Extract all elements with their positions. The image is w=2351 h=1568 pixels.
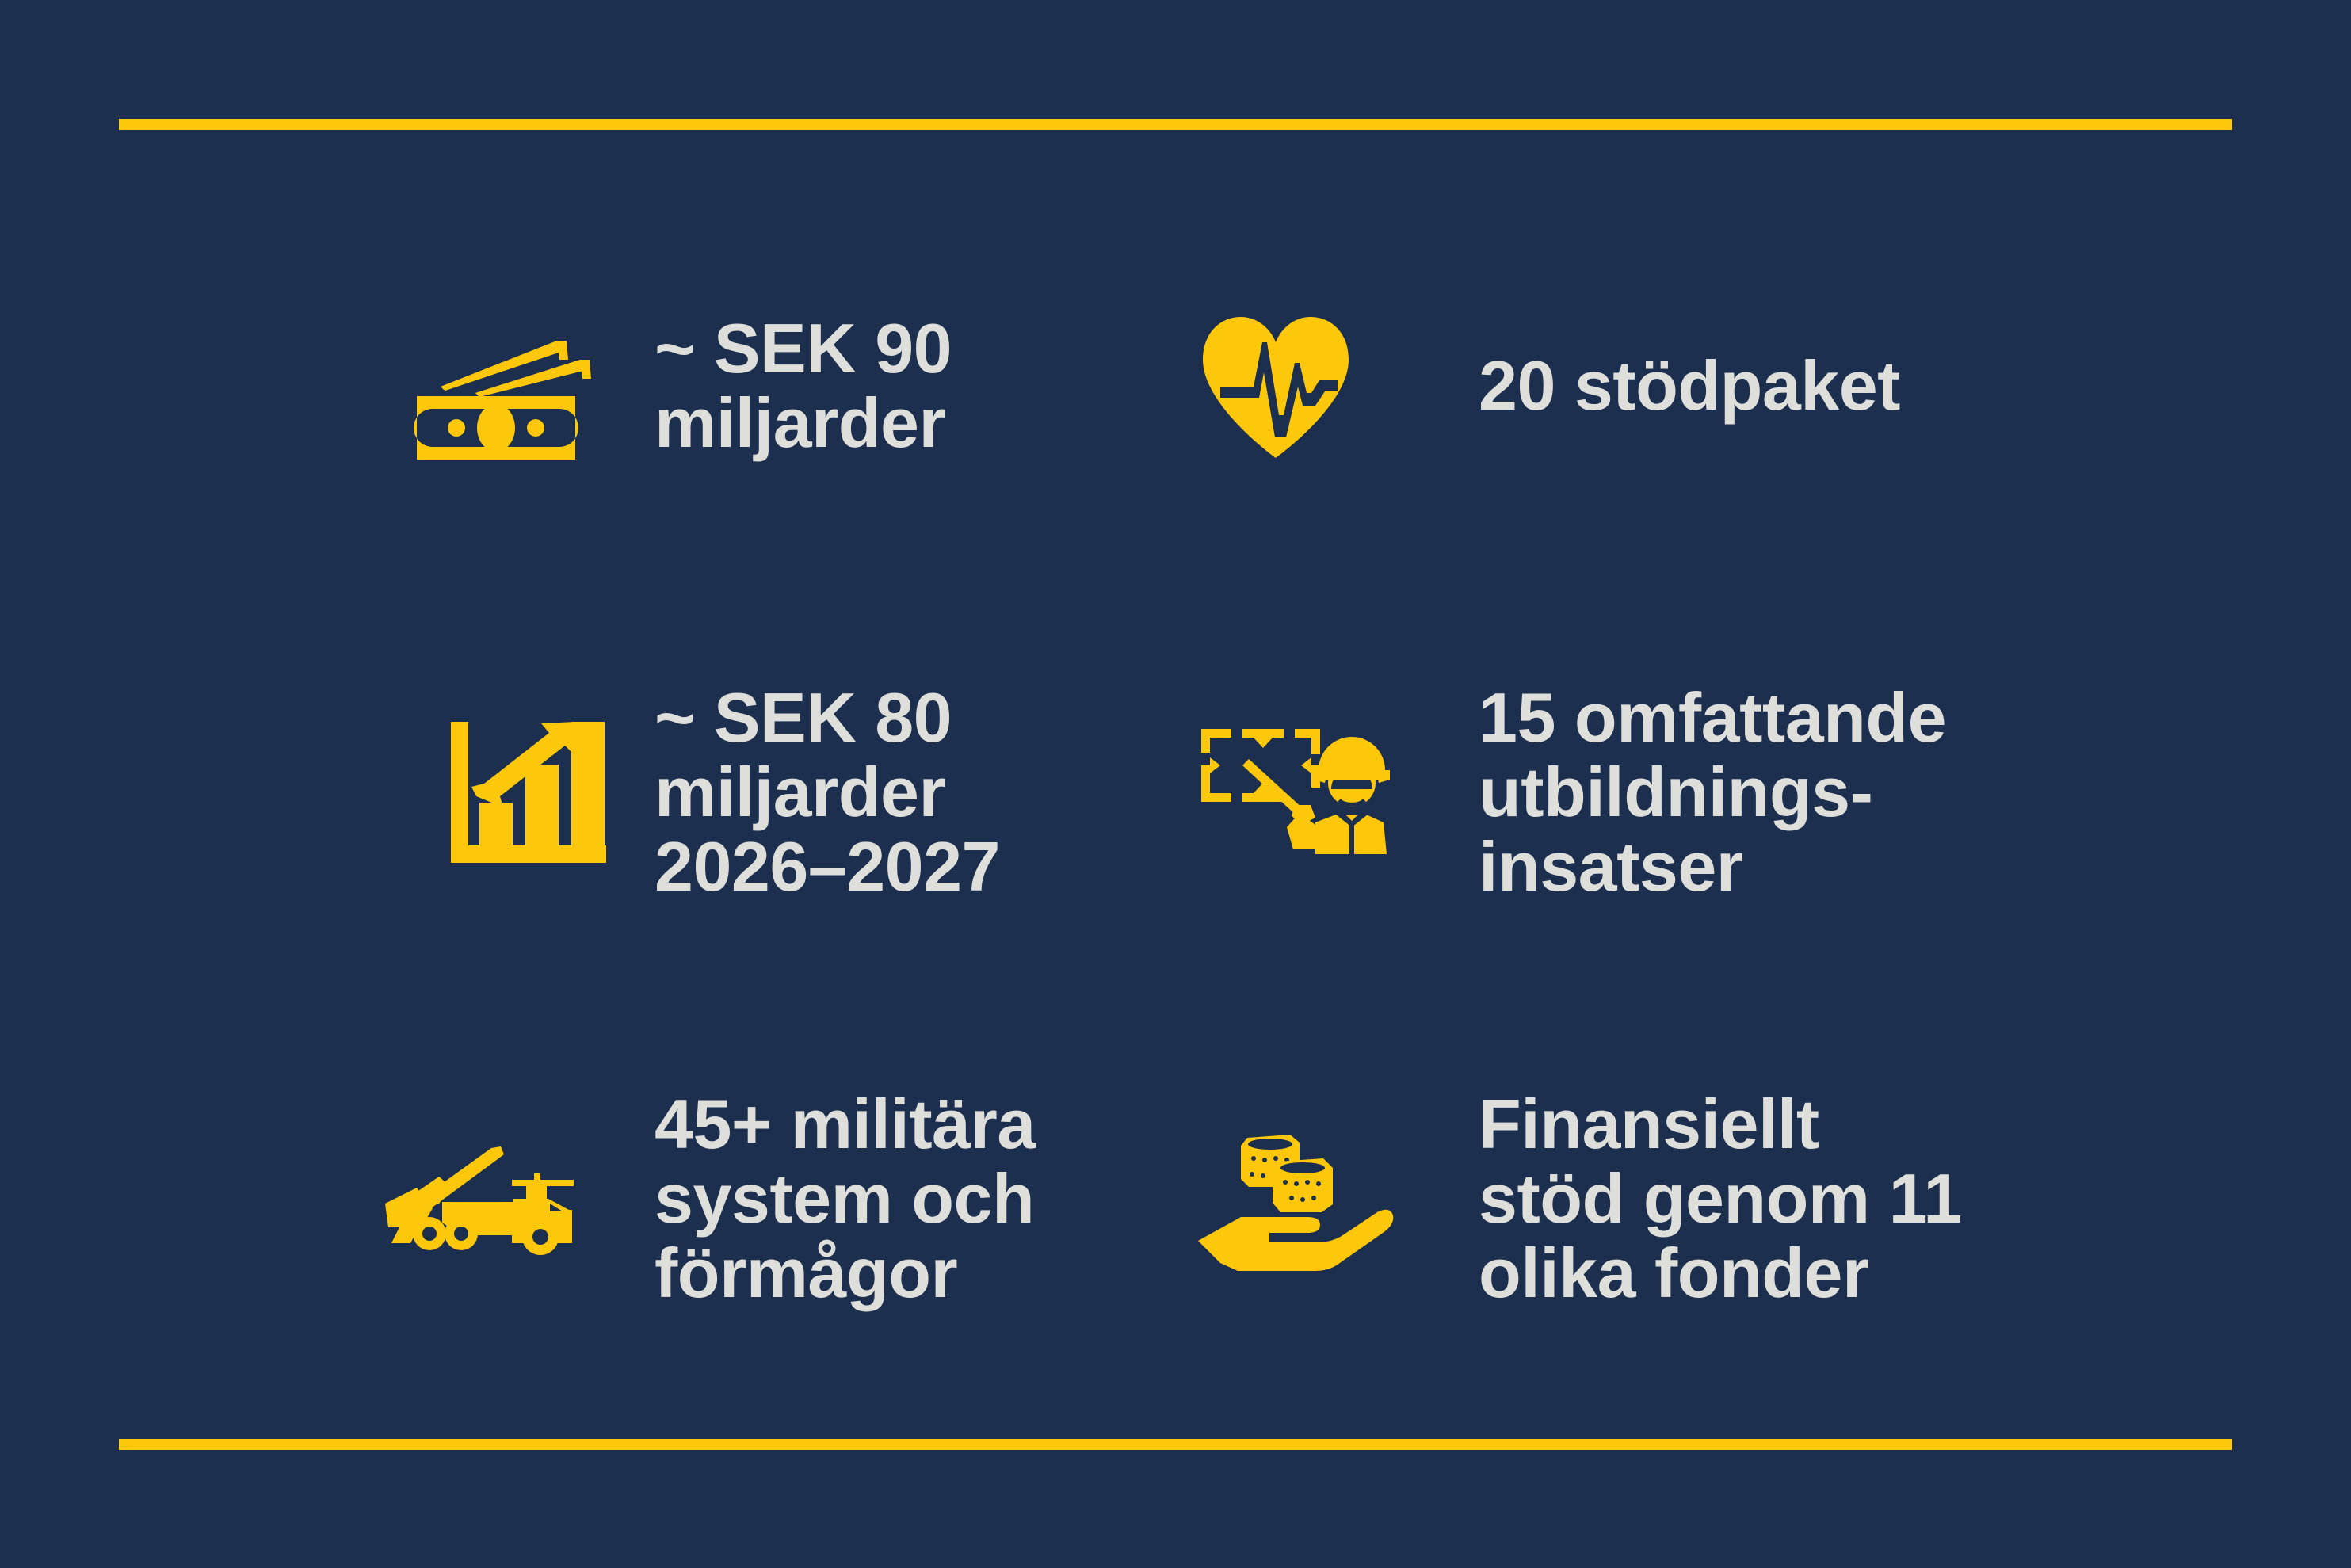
stat-item-utbildningsinsatser: 15 omfattande utbildnings- insatser [1157,589,2351,995]
bottom-divider-rule [119,1439,2232,1450]
stat-item-militara-system: 45+ militära system och förmågor [0,996,1157,1402]
artillery-truck-icon [372,1108,610,1290]
hand-coins-icon [1189,1108,1434,1290]
stat-label: ~ SEK 80 miljarder 2026–2027 [655,681,1000,904]
banknotes-icon [372,295,610,477]
stat-label: 20 stödpaket [1479,349,1900,423]
stat-label: 15 omfattande utbildnings- insatser [1479,681,1946,904]
stat-item-stodpaket: 20 stödpaket [1157,182,2351,589]
top-divider-rule [119,119,2232,130]
stats-grid: ~ SEK 90 miljarder 20 stödpaket [0,182,2351,1402]
stat-label: Finansiellt stöd genom 11 olika fonder [1479,1087,1962,1310]
heart-pulse-icon [1189,295,1434,477]
stat-item-finansiellt-stod: Finansiellt stöd genom 11 olika fonder [1157,996,2351,1402]
training-presenter-icon [1189,701,1434,883]
stat-label: ~ SEK 90 miljarder [655,311,952,460]
infographic-canvas: ~ SEK 90 miljarder 20 stödpaket [0,0,2351,1568]
growth-bar-chart-icon [372,701,610,883]
stat-item-sek-90: ~ SEK 90 miljarder [0,182,1157,589]
stat-item-sek-80: ~ SEK 80 miljarder 2026–2027 [0,589,1157,995]
stat-label: 45+ militära system och förmågor [655,1087,1036,1310]
